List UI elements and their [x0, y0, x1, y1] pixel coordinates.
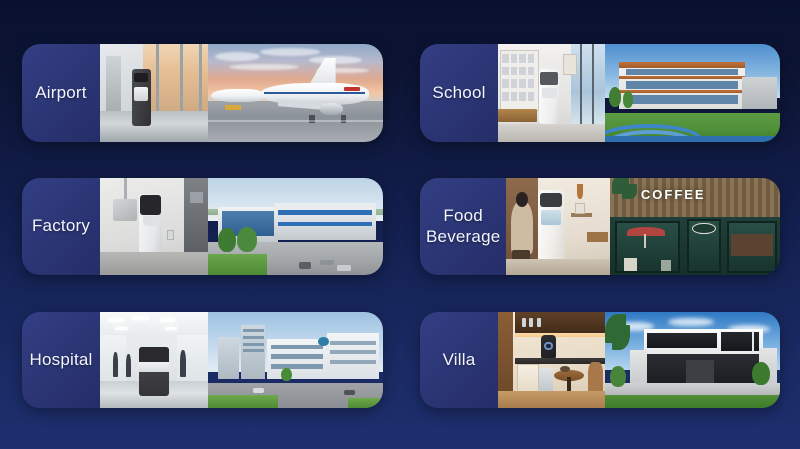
factory-exterior-image	[208, 178, 383, 275]
card-media-food-beverage: COFFEE	[506, 178, 780, 275]
card-label-panel-factory: Factory	[22, 178, 100, 275]
card-label-text-villa: Villa	[443, 350, 476, 370]
scenario-card-factory[interactable]: Factory	[22, 178, 383, 275]
school-interior-image	[498, 44, 605, 142]
card-label-text-factory: Factory	[32, 216, 90, 236]
scenario-card-villa[interactable]: Villa	[420, 312, 780, 408]
card-label-text-airport: Airport	[35, 83, 86, 103]
card-media-airport	[100, 44, 383, 142]
cafe-interior-image	[506, 178, 610, 275]
scenario-card-school[interactable]: School	[420, 44, 780, 142]
coffee-shop-facade-image: COFFEE	[610, 178, 780, 275]
card-media-villa	[498, 312, 780, 408]
card-label-panel-food-beverage: Food Beverage	[420, 178, 506, 275]
card-label-text-food-beverage: Food Beverage	[426, 206, 500, 247]
card-label-panel-villa: Villa	[420, 312, 498, 408]
scenario-card-airport[interactable]: Airport	[22, 44, 383, 142]
scenario-card-hospital[interactable]: Hospital	[22, 312, 383, 408]
coffee-signage-text: COFFEE	[641, 187, 706, 202]
card-label-text-hospital: Hospital	[29, 350, 92, 370]
card-label-panel-hospital: Hospital	[22, 312, 100, 408]
card-label-panel-school: School	[420, 44, 498, 142]
card-label-text-school: School	[432, 83, 485, 103]
villa-exterior-image	[605, 312, 780, 408]
card-media-school	[498, 44, 780, 142]
card-media-factory	[100, 178, 383, 275]
factory-interior-image	[100, 178, 208, 275]
airport-interior-image	[100, 44, 208, 142]
school-campus-image	[605, 44, 780, 142]
villa-kitchen-image	[498, 312, 605, 408]
hospital-corridor-image	[100, 312, 208, 408]
scenario-card-food-beverage[interactable]: Food Beverage	[420, 178, 780, 275]
airport-tarmac-image	[208, 44, 383, 142]
hospital-exterior-image	[208, 312, 383, 408]
card-media-hospital	[100, 312, 383, 408]
scenario-board: Airport	[0, 0, 800, 449]
card-label-panel-airport: Airport	[22, 44, 100, 142]
